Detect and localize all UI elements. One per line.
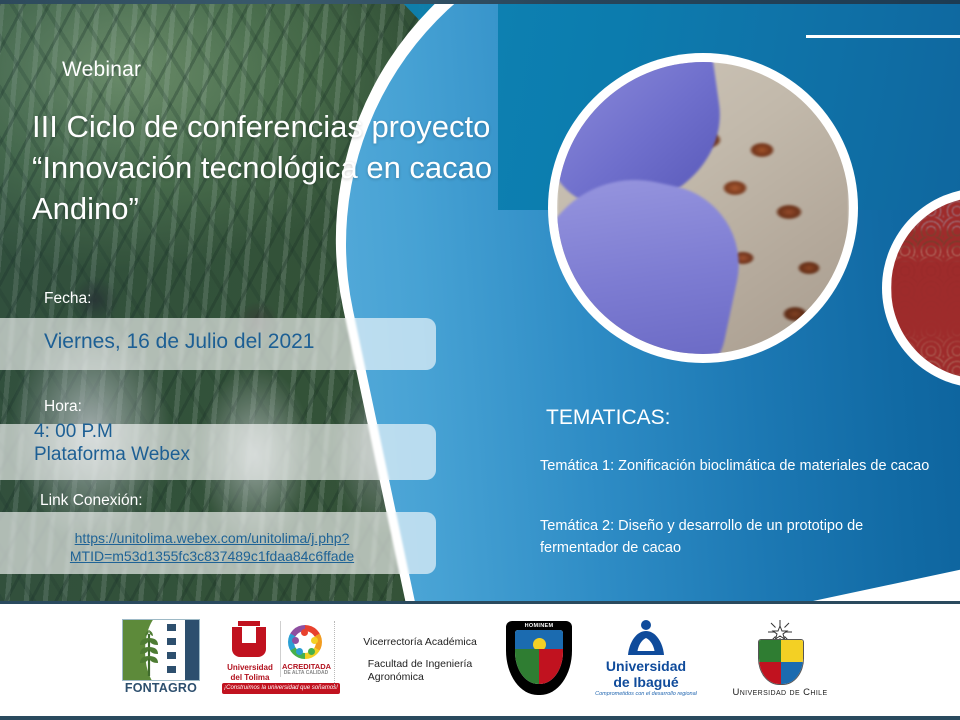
topic-item-2: Temática 2: Diseño y desarrollo de un pr… — [540, 515, 940, 559]
drying-pods-texture — [891, 197, 960, 379]
unmsm-quarter-green — [515, 649, 539, 684]
fontagro-gear-tooth — [167, 652, 176, 659]
time-value: 4: 00 P.M Plataforma Webex — [34, 420, 190, 466]
vicerrectoria-faculty: Facultad de Ingeniería Agronómica — [368, 658, 473, 684]
logo-row: FONTAGRO Universidad del Tolima ¡Constru… — [0, 604, 960, 716]
tolima-divider — [280, 621, 281, 677]
chile-wordmark: Universidad de Chile — [716, 687, 844, 698]
poster-content-band: Webinar III Ciclo de conferencias proyec… — [0, 0, 960, 601]
ibague-wordmark-line-1: Universidad — [606, 658, 686, 674]
chile-shield-icon — [758, 639, 804, 685]
seal-dot — [292, 637, 299, 644]
decorative-rule-top-right — [806, 35, 960, 38]
link-label: Link Conexión: — [40, 492, 143, 510]
unmsm-motto-top: HOMINEM — [506, 623, 572, 629]
vicerrectoria-line-2: Facultad de Ingeniería — [368, 658, 473, 671]
logo-universidad-del-tolima: Universidad del Tolima ¡Construimos la u… — [222, 617, 340, 703]
eyebrow-label: Webinar — [62, 58, 141, 82]
fontagro-gear-tooth — [167, 624, 176, 631]
time-label: Hora: — [44, 398, 82, 416]
ibague-wordmark: Universidad de Ibagué — [590, 659, 702, 690]
top-edge-bar — [0, 0, 960, 4]
ibague-wordmark-line-2: de Ibagué — [613, 674, 678, 690]
logo-universidad-de-chile: Universidad de Chile — [716, 617, 844, 703]
time-value-line-1: 4: 00 P.M — [34, 420, 190, 443]
seal-dot — [308, 648, 315, 655]
unmsm-shield-icon: HOMINEM — [506, 621, 572, 695]
fontagro-gear-tooth — [167, 666, 176, 673]
logo-fontagro: FONTAGRO — [116, 617, 208, 703]
ibague-mark-icon — [625, 619, 667, 657]
date-label: Fecha: — [44, 290, 91, 308]
topic-item-1: Temática 1: Zonificación bioclimática de… — [540, 455, 940, 477]
chile-quarter-red — [759, 662, 781, 684]
circle-photo-drying-pods-image — [891, 197, 960, 379]
webinar-poster: Webinar III Ciclo de conferencias proyec… — [0, 0, 960, 720]
fontagro-gear-tooth — [167, 638, 176, 645]
time-value-line-2: Plataforma Webex — [34, 443, 190, 466]
logo-unmsm-shield: HOMINEM — [502, 617, 576, 703]
ibague-tagline: Comprometidos con el desarrollo regional — [590, 691, 702, 697]
acreditada-sublabel: DE ALTA CALIDAD — [282, 670, 330, 676]
circle-photo-cacao-beans-image — [557, 62, 849, 354]
date-value: Viernes, 16 de Julio del 2021 — [44, 330, 314, 354]
tolima-dotted-separator — [334, 621, 335, 687]
fontagro-wordmark: FONTAGRO — [122, 681, 200, 695]
page-title: III Ciclo de conferencias proyecto “Inno… — [32, 106, 552, 230]
chile-quarter-yellow — [781, 640, 803, 662]
unmsm-shield-field — [515, 630, 563, 684]
chile-quarter-green — [759, 640, 781, 662]
unmsm-quarter-red — [539, 649, 563, 684]
webex-link[interactable]: https://unitolima.webex.com/unitolima/j.… — [0, 530, 432, 566]
fontagro-emblem — [122, 619, 200, 681]
tolima-wordmark-line-2: del Tolima — [231, 673, 270, 682]
tolima-u-topbar — [238, 621, 260, 626]
topics-heading: TEMATICAS: — [546, 406, 670, 430]
seal-dot — [311, 637, 318, 644]
tolima-u-icon — [230, 621, 268, 661]
tolima-tagline: ¡Construimos la universidad que soñamos! — [222, 683, 340, 694]
vicerrectoria-line-3: Agronómica — [368, 671, 473, 684]
circle-photo-drying-pods — [882, 188, 960, 388]
fontagro-wheat-icon — [137, 628, 161, 676]
footer-logo-strip: FONTAGRO Universidad del Tolima ¡Constru… — [0, 601, 960, 720]
logo-vicerrectoria-text: Vicerrectoría Académica Facultad de Inge… — [354, 625, 486, 695]
acreditada-seal-icon — [288, 625, 322, 659]
circle-photo-cacao-beans — [548, 53, 858, 363]
vicerrectoria-line-1: Vicerrectoría Académica — [363, 636, 477, 649]
seal-dot — [296, 648, 303, 655]
tolima-wordmark-line-1: Universidad — [227, 663, 273, 672]
chile-quarter-blue — [781, 662, 803, 684]
logo-universidad-de-ibague: Universidad de Ibagué Comprometidos con … — [590, 617, 702, 703]
seal-dot — [301, 629, 308, 636]
tolima-u-notch — [242, 627, 256, 643]
tolima-wordmark: Universidad del Tolima — [222, 663, 278, 682]
